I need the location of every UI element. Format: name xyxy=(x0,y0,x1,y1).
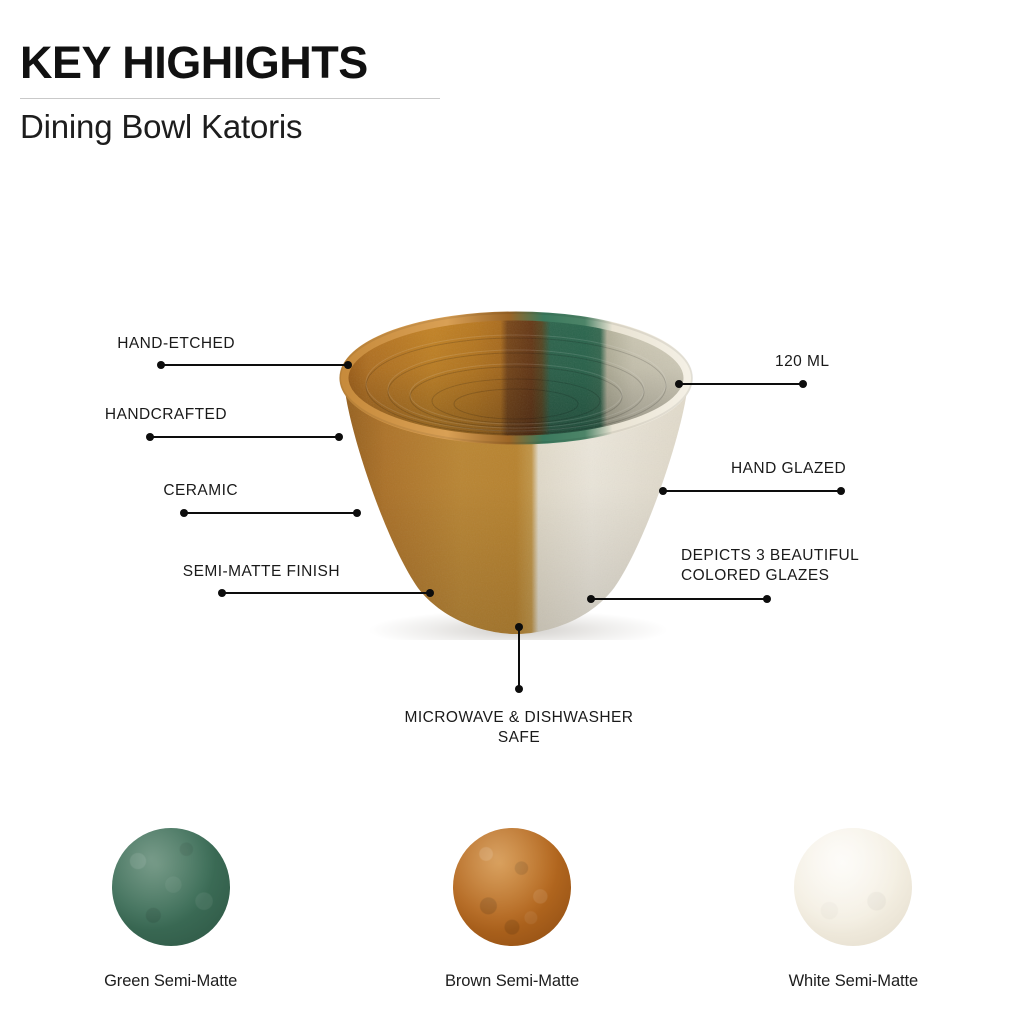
swatch-brown-semi-matte[interactable]: Brown Semi-Matte xyxy=(341,828,682,991)
leader-dot-hand-glazed-start xyxy=(659,487,667,495)
swatch-disc-green xyxy=(112,828,230,946)
product-image-bowl xyxy=(318,300,714,640)
swatch-sheen-white xyxy=(794,828,912,946)
leader-dot-handcrafted-end xyxy=(335,433,343,441)
leader-line-handcrafted xyxy=(150,436,339,438)
swatch-label-green: Green Semi-Matte xyxy=(104,972,237,991)
leader-line-semi-matte-finish xyxy=(222,592,430,594)
infographic-page: KEY HIGHIGHTS Dining Bowl Katoris xyxy=(0,0,1024,1024)
leader-line-three-glazes xyxy=(591,598,767,600)
swatch-label-white: White Semi-Matte xyxy=(789,972,919,991)
leader-dot-handcrafted-start xyxy=(146,433,154,441)
leader-dot-three-glazes-end xyxy=(763,595,771,603)
bowl-illustration xyxy=(318,300,714,640)
glaze-swatch-row: Green Semi-Matte Brown Semi-Matte White … xyxy=(0,828,1024,991)
swatch-sheen-green xyxy=(112,828,230,946)
leader-line-capacity xyxy=(679,383,803,385)
leader-line-ceramic xyxy=(184,512,357,514)
callout-label-hand-glazed: HAND GLAZED xyxy=(731,459,971,479)
leader-dot-hand-etched-start xyxy=(157,361,165,369)
leader-line-hand-glazed xyxy=(663,490,841,492)
leader-dot-microwave-dishwasher-safe-start xyxy=(515,623,523,631)
leader-dot-capacity-end xyxy=(799,380,807,388)
swatch-disc-brown xyxy=(453,828,571,946)
callout-label-microwave-dishwasher-safe: MICROWAVE & DISHWASHER SAFE xyxy=(369,708,669,748)
leader-line-hand-etched xyxy=(161,364,349,366)
page-title: KEY HIGHIGHTS xyxy=(20,40,450,85)
swatch-label-brown: Brown Semi-Matte xyxy=(445,972,579,991)
callout-label-ceramic: CERAMIC xyxy=(60,481,238,501)
leader-dot-hand-etched-end xyxy=(344,361,352,369)
leader-dot-ceramic-start xyxy=(180,509,188,517)
leader-line-microwave-dishwasher-safe xyxy=(518,627,520,689)
swatch-sheen-brown xyxy=(453,828,571,946)
callout-label-handcrafted: HANDCRAFTED xyxy=(30,405,227,425)
swatch-white-semi-matte[interactable]: White Semi-Matte xyxy=(683,828,1024,991)
header: KEY HIGHIGHTS Dining Bowl Katoris xyxy=(20,40,450,146)
leader-dot-capacity-start xyxy=(675,380,683,388)
callout-label-capacity: 120 ML xyxy=(775,352,975,372)
swatch-disc-white xyxy=(794,828,912,946)
leader-dot-microwave-dishwasher-safe-end xyxy=(515,685,523,693)
leader-dot-semi-matte-finish-end xyxy=(426,589,434,597)
leader-dot-hand-glazed-end xyxy=(837,487,845,495)
callout-label-three-glazes: DEPICTS 3 BEAUTIFUL COLORED GLAZES xyxy=(681,546,981,586)
callout-label-semi-matte-finish: SEMI-MATTE FINISH xyxy=(60,562,340,582)
leader-dot-ceramic-end xyxy=(353,509,361,517)
title-divider xyxy=(20,98,440,99)
callout-label-hand-etched: HAND-ETCHED xyxy=(30,334,235,354)
swatch-green-semi-matte[interactable]: Green Semi-Matte xyxy=(0,828,341,991)
page-subtitle: Dining Bowl Katoris xyxy=(20,108,450,146)
leader-dot-semi-matte-finish-start xyxy=(218,589,226,597)
leader-dot-three-glazes-start xyxy=(587,595,595,603)
